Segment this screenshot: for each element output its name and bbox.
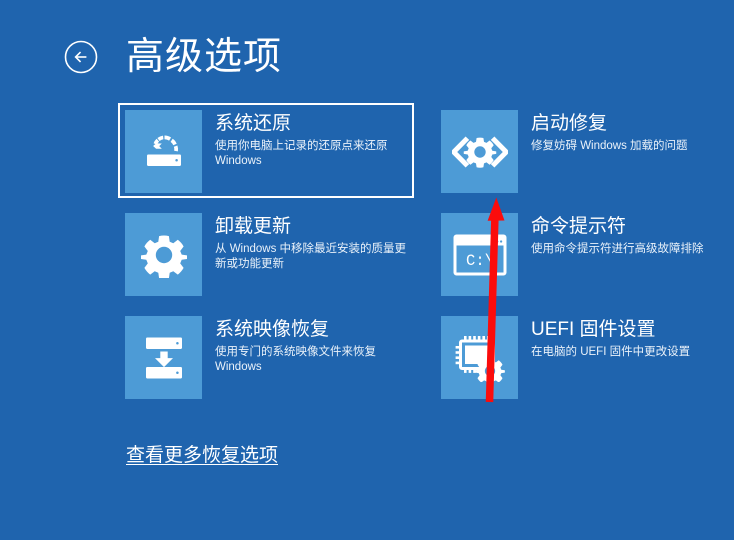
option-title: 启动修复	[531, 112, 723, 136]
option-title: 系统还原	[215, 112, 407, 136]
back-arrow-circle-icon[interactable]	[62, 38, 100, 76]
uefi-firmware-icon	[441, 316, 518, 399]
system-image-recovery-icon	[125, 316, 202, 399]
options-grid: 系统还原 使用你电脑上记录的还原点来还原 Windows 卸载更新 从	[118, 103, 734, 408]
option-tile-text: 系统映像恢复 使用专门的系统映像文件来恢复 Windows	[202, 316, 407, 375]
option-title: 卸载更新	[215, 215, 407, 239]
options-column-right: 启动修复 修复妨碍 Windows 加载的问题 C:\	[434, 103, 730, 404]
option-tile-text: 启动修复 修复妨碍 Windows 加载的问题	[518, 110, 723, 154]
option-description: 使用你电脑上记录的还原点来还原 Windows	[215, 139, 407, 169]
option-tile-system-restore[interactable]: 系统还原 使用你电脑上记录的还原点来还原 Windows	[118, 103, 414, 198]
option-tile-system-image-recovery[interactable]: 系统映像恢复 使用专门的系统映像文件来恢复 Windows	[118, 309, 414, 404]
gear-icon	[125, 213, 202, 296]
option-title: UEFI 固件设置	[531, 318, 723, 342]
option-description: 从 Windows 中移除最近安装的质量更新或功能更新	[215, 242, 407, 272]
option-tile-uninstall-updates[interactable]: 卸载更新 从 Windows 中移除最近安装的质量更新或功能更新	[118, 206, 414, 301]
option-description: 使用命令提示符进行高级故障排除	[531, 242, 723, 257]
options-column-left: 系统还原 使用你电脑上记录的还原点来还原 Windows 卸载更新 从	[118, 103, 414, 404]
option-tile-startup-repair[interactable]: 启动修复 修复妨碍 Windows 加载的问题	[434, 103, 730, 198]
option-title: 系统映像恢复	[215, 318, 407, 342]
option-tile-text: 命令提示符 使用命令提示符进行高级故障排除	[518, 213, 723, 257]
option-tile-text: UEFI 固件设置 在电脑的 UEFI 固件中更改设置	[518, 316, 723, 360]
option-title: 命令提示符	[531, 215, 723, 239]
svg-text:C:\: C:\	[466, 252, 494, 270]
option-description: 修复妨碍 Windows 加载的问题	[531, 139, 723, 154]
advanced-options-screen: 高级选项	[0, 0, 734, 540]
option-tile-text: 系统还原 使用你电脑上记录的还原点来还原 Windows	[202, 110, 407, 169]
option-description: 在电脑的 UEFI 固件中更改设置	[531, 345, 723, 360]
command-prompt-icon: C:\	[441, 213, 518, 296]
see-more-recovery-options-link[interactable]: 查看更多恢复选项	[126, 443, 278, 469]
option-tile-command-prompt[interactable]: C:\ 命令提示符 使用命令提示符进行高级故障排除	[434, 206, 730, 301]
page-title: 高级选项	[126, 35, 282, 79]
option-description: 使用专门的系统映像文件来恢复 Windows	[215, 345, 407, 375]
option-tile-text: 卸载更新 从 Windows 中移除最近安装的质量更新或功能更新	[202, 213, 407, 272]
option-tile-uefi-firmware-settings[interactable]: UEFI 固件设置 在电脑的 UEFI 固件中更改设置	[434, 309, 730, 404]
system-restore-icon	[125, 110, 202, 193]
startup-repair-icon	[441, 110, 518, 193]
screen-header: 高级选项	[62, 26, 282, 88]
